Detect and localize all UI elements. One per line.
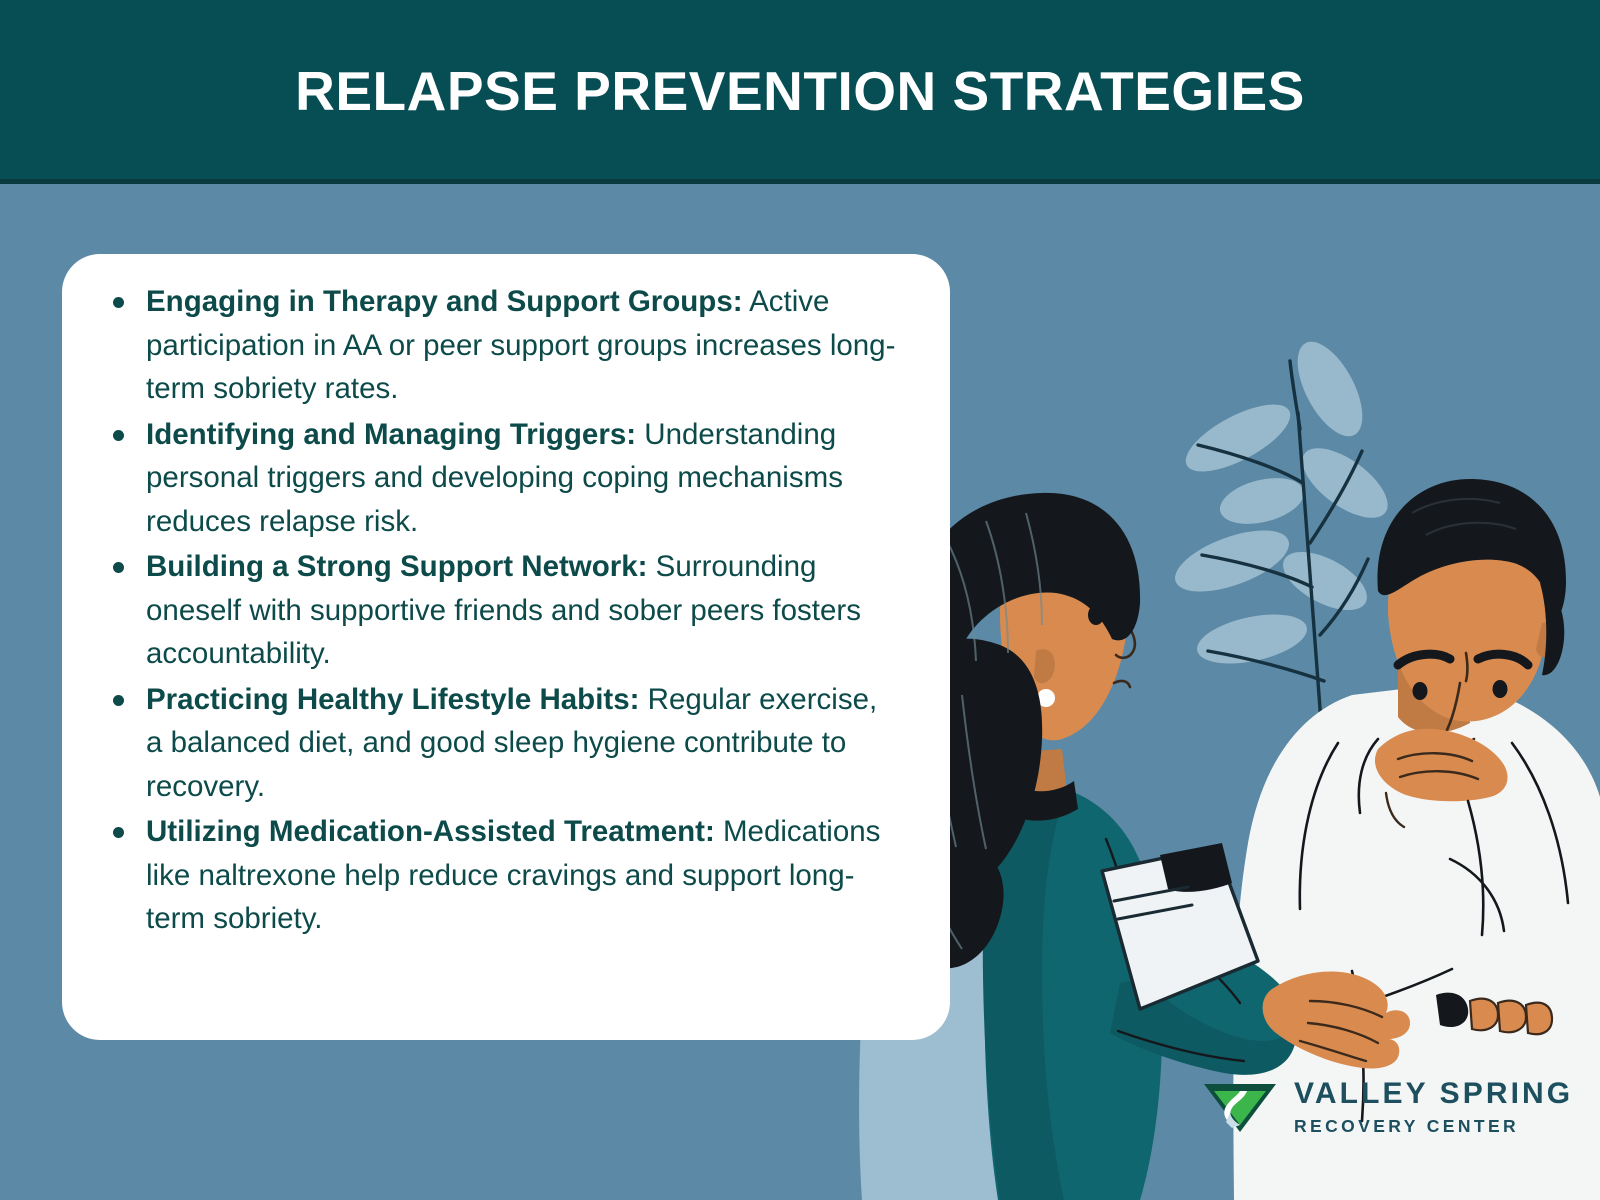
- list-item: Identifying and Managing Triggers: Under…: [100, 413, 900, 544]
- valley-triangle-icon: [1202, 1078, 1278, 1134]
- list-item-label: Building a Strong Support Network:: [146, 550, 647, 583]
- bullet-dot-icon: [113, 827, 124, 838]
- list-item-label: Engaging in Therapy and Support Groups:: [146, 285, 743, 318]
- bullet-dot-icon: [113, 430, 124, 441]
- page-title: RELAPSE PREVENTION STRATEGIES: [295, 64, 1305, 119]
- brand-logo: VALLEY SPRING RECOVERY CENTER: [1202, 1068, 1502, 1144]
- list-item: Practicing Healthy Lifestyle Habits: Reg…: [100, 678, 900, 809]
- bullet-dot-icon: [113, 297, 124, 308]
- strategies-list: Engaging in Therapy and Support Groups: …: [100, 280, 900, 943]
- list-item: Building a Strong Support Network: Surro…: [100, 545, 900, 676]
- strategies-card: Engaging in Therapy and Support Groups: …: [62, 254, 950, 1040]
- list-item-label: Identifying and Managing Triggers:: [146, 418, 636, 451]
- list-item-label: Utilizing Medication-Assisted Treatment:: [146, 815, 715, 848]
- logo-subtitle: RECOVERY CENTER: [1294, 1118, 1573, 1136]
- logo-name: VALLEY SPRING: [1294, 1079, 1573, 1109]
- infographic-page: RELAPSE PREVENTION STRATEGIES: [0, 0, 1600, 1200]
- list-item-label: Practicing Healthy Lifestyle Habits:: [146, 683, 639, 716]
- bullet-dot-icon: [113, 562, 124, 573]
- header-banner: RELAPSE PREVENTION STRATEGIES: [0, 0, 1600, 183]
- logo-wordmark: VALLEY SPRING RECOVERY CENTER: [1294, 1077, 1573, 1136]
- list-item: Engaging in Therapy and Support Groups: …: [100, 280, 900, 411]
- bullet-dot-icon: [113, 695, 124, 706]
- list-item: Utilizing Medication-Assisted Treatment:…: [100, 810, 900, 941]
